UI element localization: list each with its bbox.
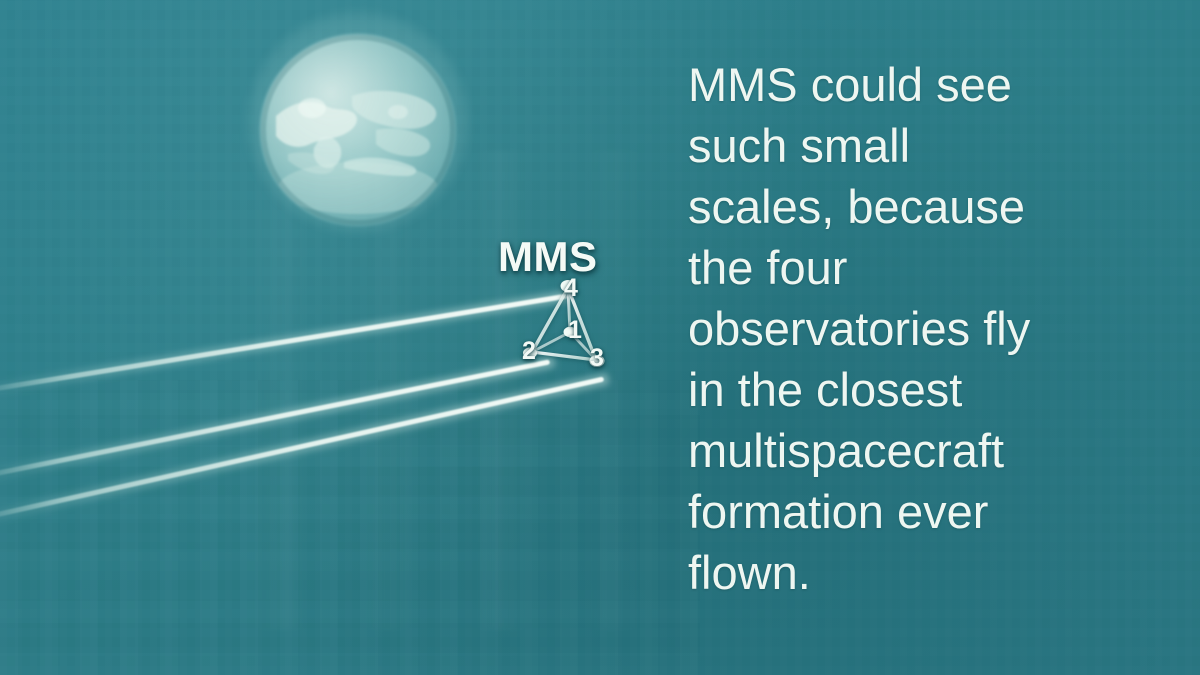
spacecraft-label-2: 2 bbox=[522, 339, 536, 364]
caption-line: MMS could see bbox=[688, 54, 1188, 115]
background-compression-blocks bbox=[0, 380, 700, 675]
caption-line: multispacecraft bbox=[688, 420, 1188, 481]
caption-line: such small bbox=[688, 115, 1188, 176]
caption-text-block: MMS could see such small scales, because… bbox=[688, 54, 1188, 603]
caption-line: the four bbox=[688, 237, 1188, 298]
spacecraft-label-1: 1 bbox=[568, 318, 582, 343]
mms-tetrahedron-formation: 4 1 2 3 bbox=[480, 260, 650, 390]
video-frame: MMS bbox=[0, 0, 1200, 675]
earth-continents bbox=[248, 12, 468, 232]
spacecraft-label-3: 3 bbox=[590, 346, 604, 371]
earth-globe bbox=[248, 12, 468, 232]
caption-line: formation ever bbox=[688, 481, 1188, 542]
spacecraft-label-4: 4 bbox=[564, 276, 578, 301]
caption-line: scales, because bbox=[688, 176, 1188, 237]
caption-line: observatories fly bbox=[688, 298, 1188, 359]
caption-line: in the closest bbox=[688, 359, 1188, 420]
caption-line: flown. bbox=[688, 542, 1188, 603]
